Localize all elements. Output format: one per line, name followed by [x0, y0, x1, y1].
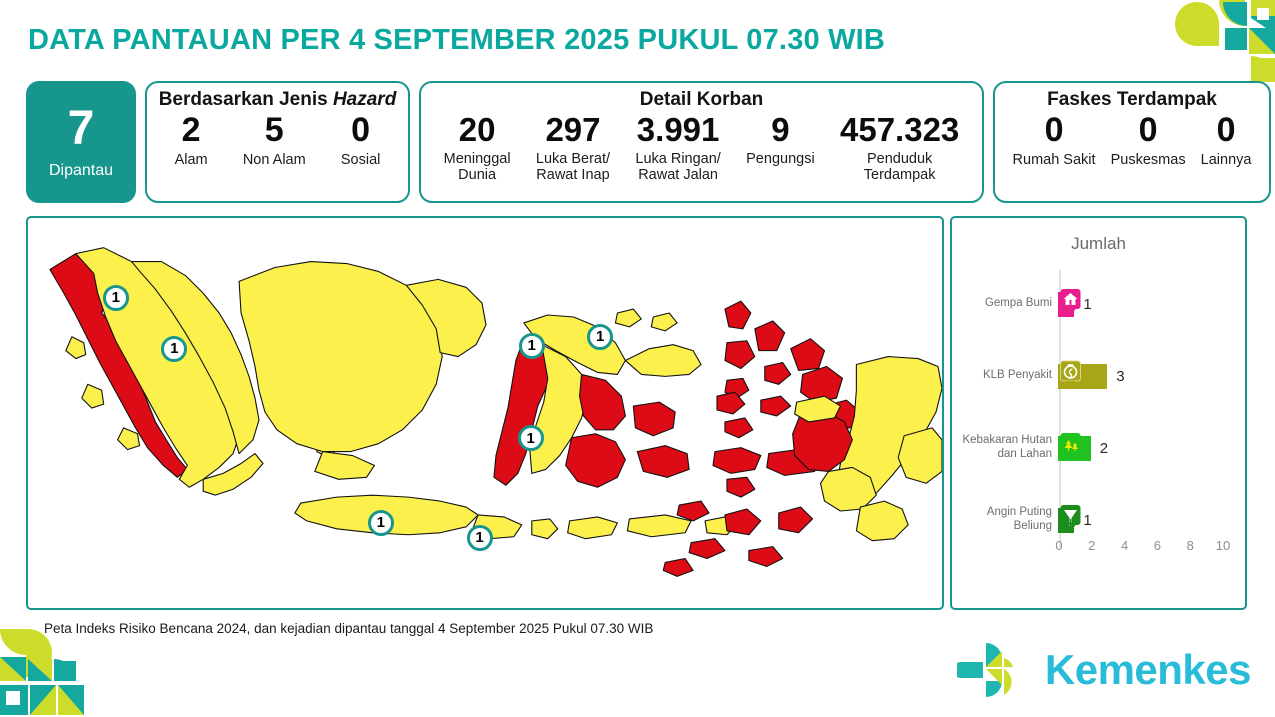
- metric-sosial-value: 0: [351, 113, 370, 149]
- earthquake-house-icon: [1058, 288, 1083, 320]
- map-marker-count: 1: [519, 333, 545, 359]
- map-marker[interactable]: 1: [518, 425, 544, 451]
- metric-alam-value: 2: [182, 113, 201, 149]
- card-hazard-title-italic: Hazard: [333, 89, 396, 110]
- metric-penduduk-terdampak: 457.323 Penduduk Terdampak: [838, 113, 961, 183]
- metric-meninggal-caption: Meninggal Dunia: [444, 151, 511, 183]
- chart-bar-value: 1: [1083, 512, 1091, 529]
- map-marker[interactable]: 1: [368, 510, 394, 536]
- metric-puskesmas-caption: Puskesmas: [1111, 152, 1186, 168]
- metric-puskesmas: 0 Puskesmas: [1109, 113, 1188, 168]
- decoration-bottom-left: [0, 627, 112, 717]
- metric-luka-berat: 297 Luka Berat/ Rawat Inap: [534, 113, 612, 183]
- chart-bar-label: Gempa Bumi: [962, 297, 1058, 311]
- disease-outbreak-icon: [1058, 360, 1083, 392]
- metric-penduduk-caption: Penduduk Terdampak: [864, 151, 936, 183]
- card-faskes-title: Faskes Terdampak: [1005, 89, 1259, 111]
- metric-meninggal-value: 20: [459, 113, 496, 148]
- card-detail-korban: Detail Korban 20 Meninggal Dunia 297 Luk…: [419, 81, 984, 203]
- metric-sosial-caption: Sosial: [341, 152, 381, 168]
- map-marker-count: 1: [103, 285, 129, 311]
- metric-non-alam-caption: Non Alam: [243, 152, 306, 168]
- chart-body: Gempa Bumi 1KLB Penyakit 3Kebakaran Huta…: [962, 264, 1235, 564]
- map-marker[interactable]: 1: [467, 525, 493, 551]
- chart-bar-wrap: 1: [1058, 284, 1092, 324]
- kemenkes-mark-icon: [957, 641, 1031, 699]
- metric-luka-ringan: 3.991 Luka Ringan/ Rawat Jalan: [633, 113, 722, 183]
- metric-alam-caption: Alam: [175, 152, 208, 168]
- map-marker[interactable]: 1: [161, 336, 187, 362]
- card-dipantau: 7 Dipantau: [26, 81, 136, 203]
- chart-bar-row[interactable]: Angin Puting Beliung 1: [962, 500, 1235, 540]
- card-korban-title: Detail Korban: [431, 89, 972, 111]
- page-title: DATA PANTAUAN PER 4 SEPTEMBER 2025 PUKUL…: [28, 24, 885, 57]
- chart-bar-value: 3: [1116, 368, 1124, 385]
- chart-bar-wrap: 2: [1058, 428, 1108, 468]
- chart-x-tick: 8: [1187, 538, 1194, 553]
- metric-non-alam: 5 Non Alam: [241, 113, 308, 168]
- dipantau-label: Dipantau: [49, 162, 113, 180]
- map-marker[interactable]: 1: [519, 333, 545, 359]
- metric-lainnya-caption: Lainnya: [1201, 152, 1252, 168]
- metric-pengungsi: 9 Pengungsi: [744, 113, 817, 167]
- map-marker-count: 1: [587, 324, 613, 350]
- metric-sosial: 0 Sosial: [339, 113, 383, 168]
- metric-puskesmas-value: 0: [1139, 113, 1158, 149]
- chart-x-axis: 0246810: [962, 538, 1235, 558]
- kemenkes-logo: Kemenkes: [957, 641, 1251, 699]
- hazard-count-chart-panel: Jumlah Gempa Bumi 1KLB Penyakit 3Kebakar…: [950, 216, 1247, 610]
- chart-bar-wrap: 3: [1058, 356, 1125, 396]
- map-marker-count: 1: [467, 525, 493, 551]
- metric-lainnya-value: 0: [1217, 113, 1236, 149]
- metric-meninggal-dunia: 20 Meninggal Dunia: [442, 113, 513, 183]
- metric-alam: 2 Alam: [173, 113, 210, 168]
- chart-bar-wrap: 1: [1058, 500, 1092, 540]
- metric-penduduk-value: 457.323: [840, 113, 959, 148]
- metric-pengungsi-caption: Pengungsi: [746, 151, 815, 167]
- chart-x-tick: 4: [1121, 538, 1128, 553]
- chart-bar-row[interactable]: KLB Penyakit 3: [962, 356, 1235, 396]
- map-marker[interactable]: 1: [103, 285, 129, 311]
- chart-bar-value: 2: [1100, 440, 1108, 457]
- metric-luka-ringan-value: 3.991: [637, 113, 720, 148]
- chart-bar-row[interactable]: Kebakaran Hutan dan Lahan 2: [962, 428, 1235, 468]
- metric-rumah-sakit-value: 0: [1045, 113, 1064, 149]
- footer-note: Peta Indeks Risiko Bencana 2024, dan kej…: [44, 621, 653, 636]
- kemenkes-wordmark: Kemenkes: [1045, 646, 1251, 694]
- chart-x-tick: 6: [1154, 538, 1161, 553]
- map-marker-count: 1: [518, 425, 544, 451]
- chart-title: Jumlah: [952, 234, 1245, 254]
- metric-non-alam-value: 5: [265, 113, 284, 149]
- card-hazard-title-plain: Berdasarkan Jenis: [159, 89, 333, 110]
- metric-luka-ringan-caption: Luka Ringan/ Rawat Jalan: [635, 151, 720, 183]
- chart-bar-value: 1: [1083, 296, 1091, 313]
- map-marker-count: 1: [368, 510, 394, 536]
- metric-rumah-sakit: 0 Rumah Sakit: [1011, 113, 1098, 168]
- card-hazard-title: Berdasarkan Jenis Hazard: [157, 89, 398, 111]
- forest-fire-icon: [1058, 432, 1083, 464]
- metric-luka-berat-value: 297: [545, 113, 600, 148]
- decoration-top-right: [1167, 0, 1275, 92]
- map-marker[interactable]: 1: [587, 324, 613, 350]
- chart-x-tick: 10: [1216, 538, 1230, 553]
- map-marker-count: 1: [161, 336, 187, 362]
- card-hazard: Berdasarkan Jenis Hazard 2 Alam 5 Non Al…: [145, 81, 410, 203]
- chart-bar-label: Angin Puting Beliung: [962, 506, 1058, 533]
- card-faskes-terdampak: Faskes Terdampak 0 Rumah Sakit 0 Puskesm…: [993, 81, 1271, 203]
- kpi-row: 7 Dipantau Berdasarkan Jenis Hazard 2 Al…: [26, 81, 1271, 203]
- metric-pengungsi-value: 9: [771, 113, 789, 148]
- chart-x-tick: 2: [1088, 538, 1095, 553]
- dipantau-value: 7: [68, 105, 95, 153]
- metric-rumah-sakit-caption: Rumah Sakit: [1013, 152, 1096, 168]
- chart-x-tick: 0: [1055, 538, 1062, 553]
- metric-luka-berat-caption: Luka Berat/ Rawat Inap: [536, 151, 610, 183]
- indonesia-risk-map-panel[interactable]: 1111111: [26, 216, 944, 610]
- chart-bar-label: KLB Penyakit: [962, 369, 1058, 383]
- chart-bar-row[interactable]: Gempa Bumi 1: [962, 284, 1235, 324]
- metric-lainnya: 0 Lainnya: [1199, 113, 1254, 168]
- chart-bar-label: Kebakaran Hutan dan Lahan: [962, 434, 1058, 461]
- tornado-icon: [1058, 504, 1083, 536]
